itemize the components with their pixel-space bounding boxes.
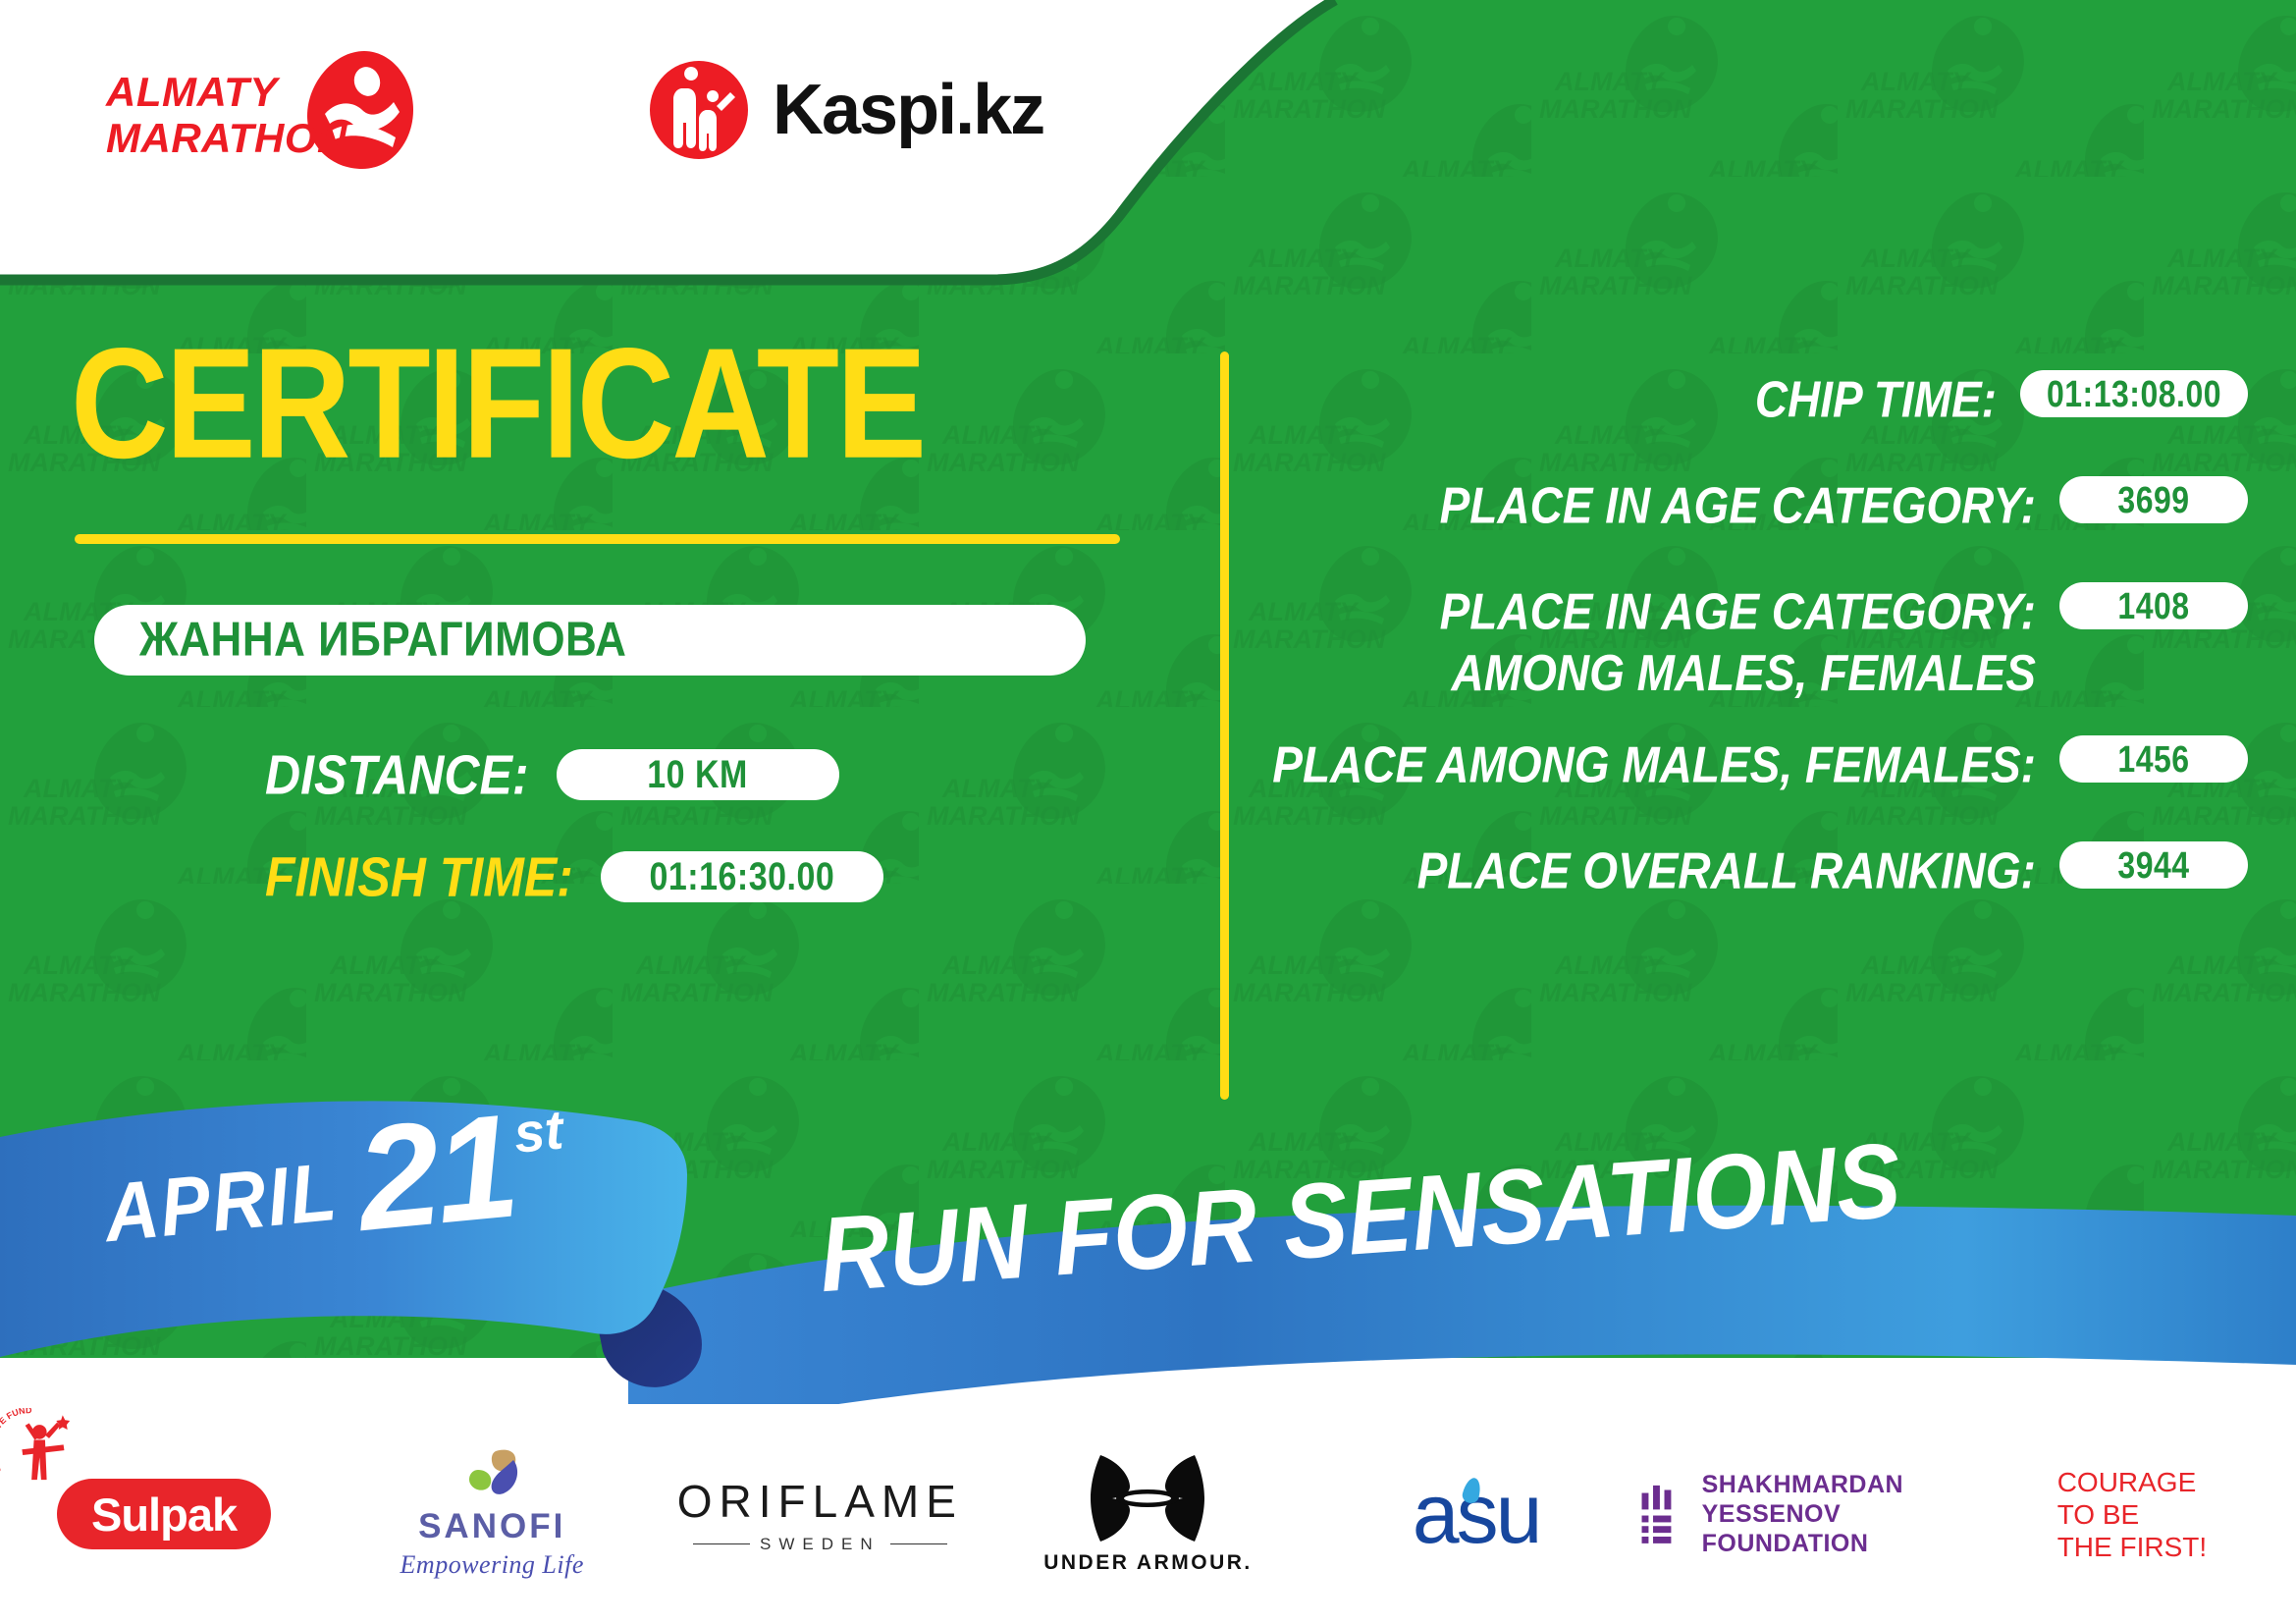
almaty-marathon-logo: ALMATY MARATHON (106, 47, 430, 175)
distance-value: 10 KM (647, 752, 748, 797)
distance-row: DISTANCE: 10 KM (265, 746, 1178, 803)
result-value-pill: 3699 (2059, 476, 2248, 523)
yessenov-logo: SHAKHMARDAN YESSENOV FOUNDATION (1640, 1470, 1968, 1558)
result-value: 01:13:08.00 (2047, 372, 2221, 415)
yessenov-name: SHAKHMARDAN YESSENOV FOUNDATION (1702, 1470, 1968, 1558)
participant-name-value: ЖАННА ИБРАГИМОВА (94, 613, 626, 668)
asu-logo: asu (1413, 1472, 1540, 1556)
result-value-pill: 1408 (2059, 582, 2248, 629)
kaspi-mark-icon (648, 59, 751, 162)
yessenov-line2: FOUNDATION (1702, 1529, 1968, 1558)
results-column: CHIP TIME: 01:13:08.00 PLACE IN AGE CATE… (1266, 368, 2248, 946)
sulpak-logo: Sulpak (57, 1479, 271, 1549)
oriflame-name: ORIFLAME (677, 1475, 963, 1528)
result-value: 3699 (2117, 478, 2189, 521)
result-row-place-among-gender: PLACE AMONG MALES, FEMALES: 1456 (1266, 733, 2248, 796)
courage-text: COURAGE TO BE THE FIRST! (2057, 1466, 2207, 1563)
sanofi-name: SANOFI (400, 1507, 584, 1546)
yessenov-line1: SHAKHMARDAN YESSENOV (1702, 1470, 1968, 1529)
result-label: PLACE OVERALL RANKING: (1266, 839, 2059, 901)
column-divider (1220, 352, 1229, 1100)
sanofi-logo: SANOFI Empowering Life (400, 1448, 584, 1580)
result-label: PLACE IN AGE CATEGORY: (1266, 474, 2059, 536)
result-row-place-age-category: PLACE IN AGE CATEGORY: 3699 (1266, 474, 2248, 537)
courage-line1: COURAGE (2057, 1466, 2207, 1498)
participant-name-field: ЖАННА ИБРАГИМОВА (94, 605, 1086, 676)
kaspi-logo-text: Kaspi.kz (773, 70, 1043, 150)
marathon-logo-text: ALMATY MARATHON (106, 69, 347, 161)
marathon-logo-line2: MARATHON (106, 115, 347, 161)
certificate-canvas: ALMATY MARATHON ALMATY (0, 0, 2296, 1624)
title-underline (75, 534, 1120, 544)
result-row-place-overall: PLACE OVERALL RANKING: 3944 (1266, 839, 2248, 902)
under-armour-name: UNDER ARMOUR. (1043, 1551, 1253, 1575)
kaspi-logo: Kaspi.kz (648, 51, 1043, 169)
sponsor-sulpak: Sulpak (0, 1479, 328, 1549)
sanofi-tagline: Empowering Life (400, 1550, 584, 1580)
courage-line2: TO BE (2057, 1498, 2207, 1531)
left-column: CERTIFICATE ЖАННА ИБРАГИМОВА DISTANCE: 1… (0, 324, 1178, 905)
result-value: 1408 (2117, 584, 2189, 627)
courage-mark-icon: CORPORATE FUND (0, 1408, 75, 1485)
finish-time-value: 01:16:30.00 (649, 854, 834, 899)
certificate-title: CERTIFICATE (71, 324, 1178, 483)
result-label: PLACE AMONG MALES, FEMALES: (1266, 733, 2059, 795)
finish-time-value-pill: 01:16:30.00 (601, 851, 883, 902)
sponsor-under-armour: UNDER ARMOUR. (984, 1453, 1311, 1575)
svg-text:CORPORATE FUND: CORPORATE FUND (0, 1408, 32, 1475)
sponsor-courage-fund: CORPORATE FUND COURAGE TO BE THE FIRST! (1968, 1466, 2296, 1563)
oriflame-tagline: SWEDEN (677, 1535, 963, 1554)
under-armour-mark-icon (1083, 1453, 1212, 1543)
distance-value-pill: 10 KM (557, 749, 839, 800)
result-value-pill: 3944 (2059, 841, 2248, 889)
sponsor-oriflame: ORIFLAME SWEDEN (656, 1475, 984, 1554)
distance-label: DISTANCE: (265, 742, 529, 807)
result-value: 3944 (2117, 843, 2189, 887)
under-armour-logo: UNDER ARMOUR. (1043, 1453, 1253, 1575)
finish-time-row: FINISH TIME: 01:16:30.00 (265, 848, 1178, 905)
sponsor-yessenov-foundation: SHAKHMARDAN YESSENOV FOUNDATION (1640, 1470, 1968, 1558)
result-value: 1456 (2117, 737, 2189, 781)
sponsor-asu: asu (1312, 1472, 1640, 1556)
result-value-pill: 1456 (2059, 735, 2248, 783)
event-ribbon (0, 1070, 2296, 1424)
yessenov-mark-icon (1640, 1475, 1682, 1553)
sponsor-bar: Sulpak SANOFI Empowering Life ORIFLAME S… (0, 1404, 2296, 1624)
marathon-logo-line1: ALMATY (106, 69, 347, 115)
courage-line3: THE FIRST! (2057, 1531, 2207, 1563)
courage-logo: CORPORATE FUND COURAGE TO BE THE FIRST! (2057, 1466, 2207, 1563)
oriflame-logo: ORIFLAME SWEDEN (677, 1475, 963, 1554)
result-label: PLACE IN AGE CATEGORY: AMONG MALES, FEMA… (1266, 580, 2059, 703)
finish-time-label: FINISH TIME: (265, 844, 573, 909)
result-row-chip-time: CHIP TIME: 01:13:08.00 (1266, 368, 2248, 431)
result-label: CHIP TIME: (1266, 368, 2020, 430)
result-value-pill: 01:13:08.00 (2020, 370, 2248, 417)
result-row-place-age-category-gender: PLACE IN AGE CATEGORY: AMONG MALES, FEMA… (1266, 580, 2248, 690)
sponsor-sanofi: SANOFI Empowering Life (328, 1448, 656, 1580)
sanofi-mark-icon (456, 1448, 527, 1501)
